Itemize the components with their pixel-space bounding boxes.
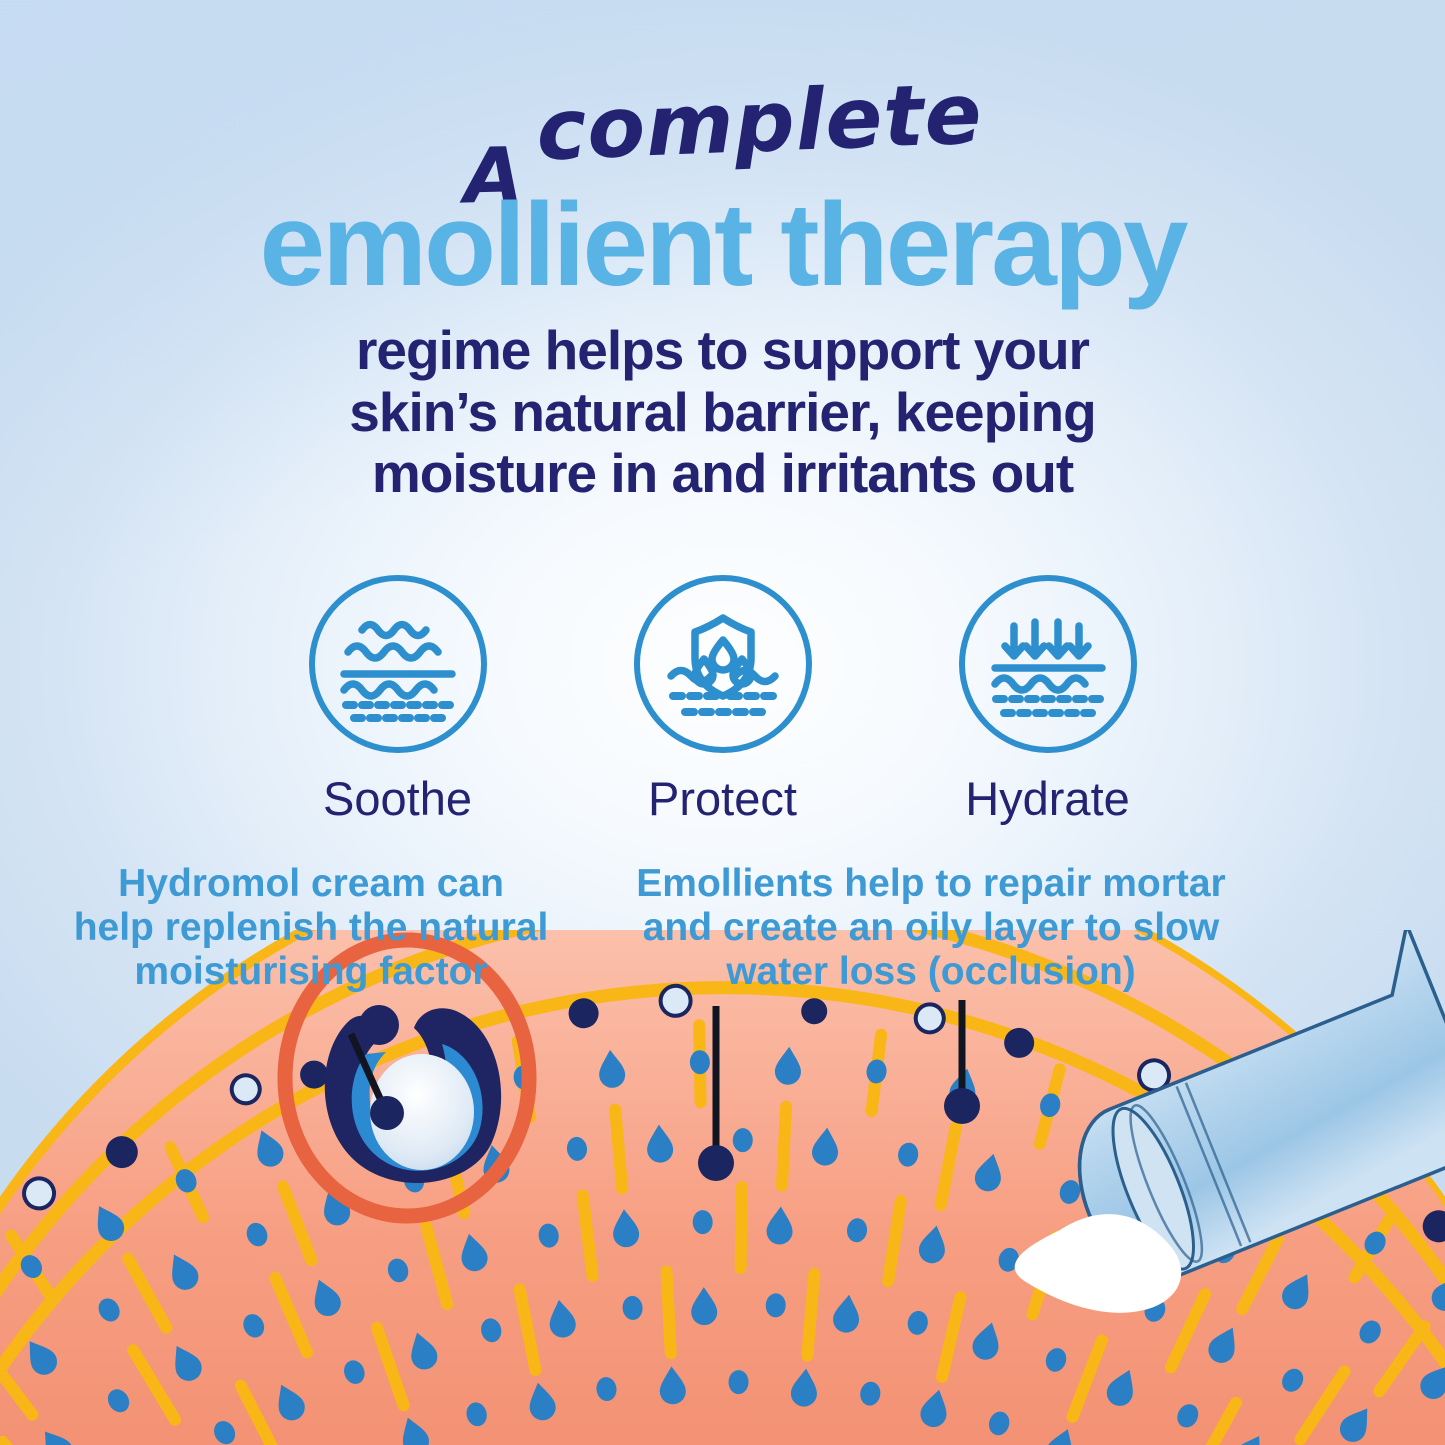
benefit-item-soothe: Soothe [298,575,498,826]
benefit-label-soothe: Soothe [298,771,498,826]
sub-headline-line-2: skin’s natural barrier, keeping [243,382,1203,444]
down-arrows-skin-icon [982,604,1114,724]
sub-headline-line-1: regime helps to support your [243,320,1203,382]
sub-headline: regime helps to support your skin’s natu… [243,320,1203,505]
callout-nmf-line-2: help replenish the natural [62,906,560,950]
callout-occlusion-line-1: Emollients help to repair mortar [604,862,1258,906]
hydrate-icon-circle [959,575,1137,753]
skin-brick-and-mortar-illustration [0,930,1445,1445]
benefit-icon-row: Soothe Pr [0,575,1445,826]
skin-layers-waves-icon [332,604,464,724]
soothe-icon-circle [309,575,487,753]
callout-occlusion: Emollients help to repair mortar and cre… [604,862,1258,994]
callout-nmf-line-1: Hydromol cream can [62,862,560,906]
callout-occlusion-line-3: water loss (occlusion) [604,950,1258,994]
script-headline-word-complete: complete [535,71,984,172]
protect-icon-circle [634,575,812,753]
callout-occlusion-line-2: and create an oily layer to slow [604,906,1258,950]
benefit-item-protect: Protect [623,575,823,826]
benefit-label-protect: Protect [623,771,823,826]
benefit-item-hydrate: Hydrate [948,575,1148,826]
callout-nmf-line-3: moisturising factor [62,950,560,994]
benefit-label-hydrate: Hydrate [948,771,1148,826]
callout-nmf: Hydromol cream can help replenish the na… [62,862,560,994]
shield-droplets-skin-icon [657,604,789,724]
sub-headline-line-3: moisture in and irritants out [243,443,1203,505]
main-headline: emollient therapy [0,186,1445,304]
skin-diagram-svg [0,930,1445,1445]
